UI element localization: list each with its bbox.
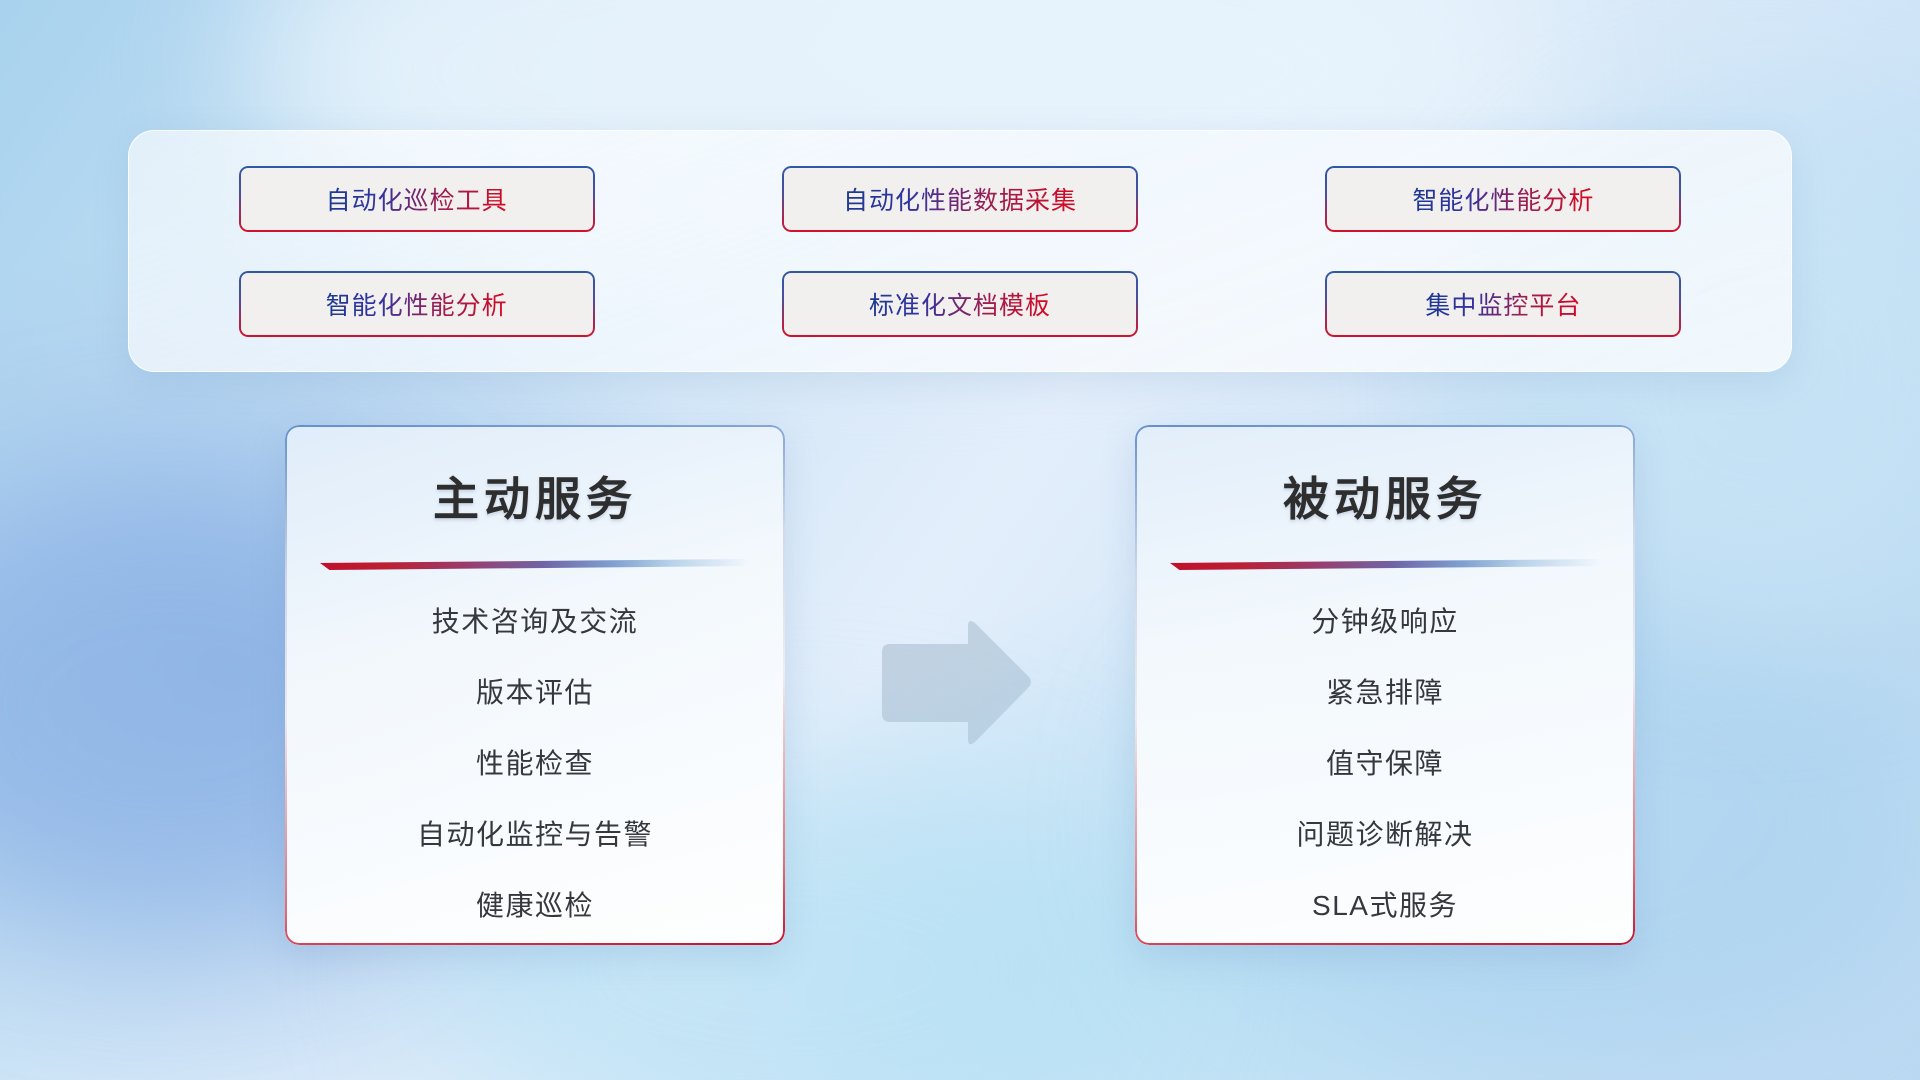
capability-tag[interactable]: 标准化文档模板 xyxy=(782,271,1138,337)
capability-tag[interactable]: 智能化性能分析 xyxy=(239,271,595,337)
list-item: 版本评估 xyxy=(285,679,785,707)
slide-canvas: 自动化巡检工具 自动化性能数据采集 智能化性能分析 智能化性能分析 标准化文档模… xyxy=(0,0,1920,1080)
service-list: 分钟级响应 紧急排障 值守保障 问题诊断解决 SLA式服务 xyxy=(1135,608,1635,920)
list-item: 性能检查 xyxy=(285,750,785,778)
capability-tag[interactable]: 集中监控平台 xyxy=(1325,271,1681,337)
service-card-proactive: 主动服务 技术咨询及交流 版本评估 性能检查 自动化监控与告警 健康巡检 xyxy=(285,425,785,945)
list-item: 自动化监控与告警 xyxy=(285,821,785,849)
list-item: 问题诊断解决 xyxy=(1135,821,1635,849)
list-item: 技术咨询及交流 xyxy=(285,608,785,636)
capability-tag-label: 自动化性能数据采集 xyxy=(843,181,1077,217)
capability-tag[interactable]: 智能化性能分析 xyxy=(1325,166,1681,232)
card-divider xyxy=(320,559,750,570)
service-card-reactive: 被动服务 分钟级响应 紧急排障 值守保障 问题诊断解决 SLA式服务 xyxy=(1135,425,1635,945)
card-title: 被动服务 xyxy=(1135,463,1635,529)
capability-tag[interactable]: 自动化性能数据采集 xyxy=(782,166,1138,232)
list-item: 分钟级响应 xyxy=(1135,608,1635,636)
capability-tag-label: 自动化巡检工具 xyxy=(326,181,508,217)
list-item: 紧急排障 xyxy=(1135,679,1635,707)
list-item: 值守保障 xyxy=(1135,750,1635,778)
capability-tag-label: 智能化性能分析 xyxy=(1412,181,1594,217)
capability-tag[interactable]: 自动化巡检工具 xyxy=(239,166,595,232)
card-title: 主动服务 xyxy=(285,463,785,529)
capability-tag-label: 标准化文档模板 xyxy=(869,286,1051,322)
list-item: SLA式服务 xyxy=(1135,892,1635,920)
capability-tag-label: 集中监控平台 xyxy=(1425,286,1581,322)
capability-tag-label: 智能化性能分析 xyxy=(326,286,508,322)
card-divider xyxy=(1170,559,1600,570)
service-list: 技术咨询及交流 版本评估 性能检查 自动化监控与告警 健康巡检 xyxy=(285,608,785,920)
right-arrow-icon xyxy=(876,618,1034,748)
list-item: 健康巡检 xyxy=(285,892,785,920)
capability-panel: 自动化巡检工具 自动化性能数据采集 智能化性能分析 智能化性能分析 标准化文档模… xyxy=(128,130,1792,372)
